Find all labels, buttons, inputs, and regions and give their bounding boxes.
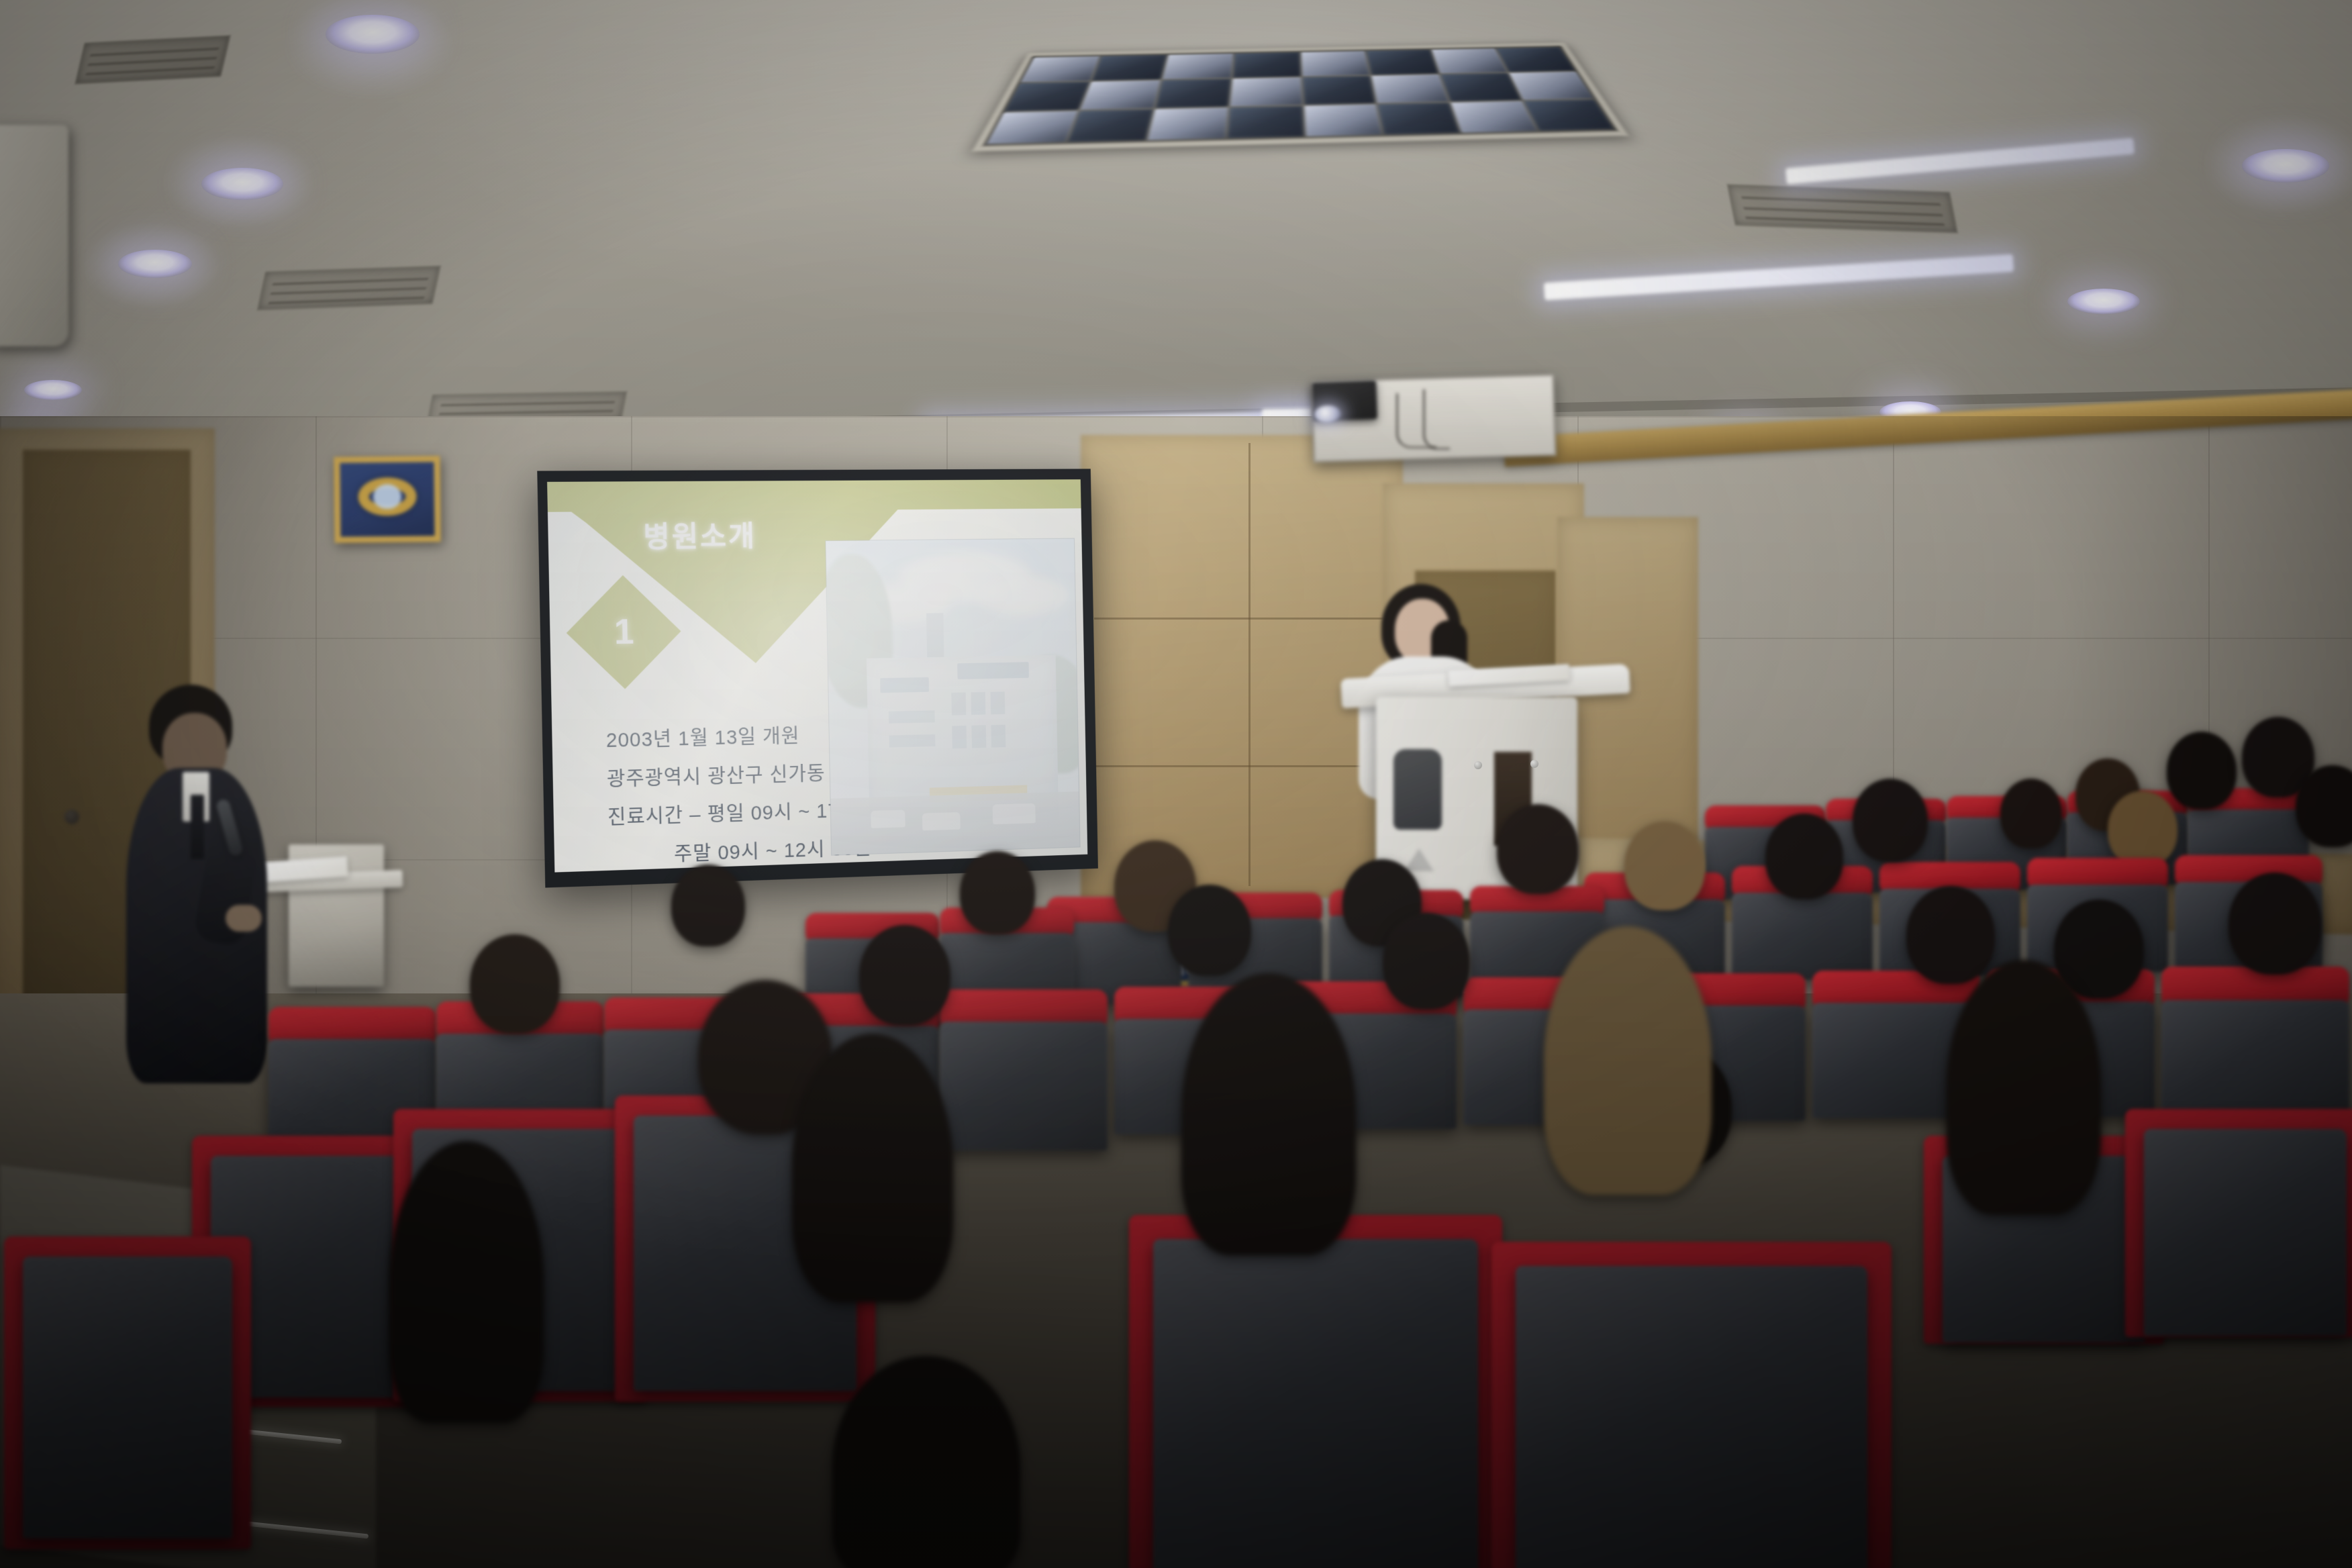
audience-head (2228, 873, 2321, 975)
loudspeaker-icon (0, 125, 68, 346)
seat-foreground (13, 1242, 242, 1551)
necktie (191, 795, 204, 859)
mc-speaker (121, 685, 268, 1155)
air-vent-icon (257, 265, 442, 310)
audience-head (671, 865, 745, 946)
screen-surface: 병원소개 1 2003년 1월 13일 개원 광주광역시 광산구 신가동 위치 … (547, 479, 1087, 872)
audience-head (1497, 804, 1579, 894)
audience-head-foreground (832, 1356, 1020, 1568)
slide-photo-hospital (826, 539, 1079, 855)
audience-head (2108, 791, 2177, 867)
audience-head (1168, 885, 1251, 976)
lectern-control-panel (1393, 749, 1442, 830)
projector-cables (1423, 389, 1450, 450)
audience-head (1765, 814, 1843, 899)
air-vent-icon (1727, 184, 1959, 233)
seat-row-near (2161, 967, 2349, 1121)
slide-title: 병원소개 (643, 513, 757, 556)
lectern-screw (1530, 760, 1538, 768)
plaque-label (340, 530, 434, 530)
audience-head-foreground (792, 1034, 953, 1302)
lectern-logo (1404, 848, 1434, 871)
audience-head (470, 934, 560, 1034)
audience-head-foreground (1947, 960, 2101, 1215)
audience-head (1624, 822, 1705, 910)
audience-head-foreground (1181, 973, 1356, 1255)
air-vent-icon (75, 35, 230, 84)
lectern-screw (1474, 761, 1482, 769)
audience-head (1906, 886, 1995, 984)
downlight-icon (24, 380, 82, 400)
audience-head-foreground (389, 1141, 544, 1423)
downlight-icon (326, 15, 420, 54)
slide: 병원소개 1 2003년 1월 13일 개원 광주광역시 광산구 신가동 위치 … (547, 479, 1087, 872)
projection-screen: 병원소개 1 2003년 1월 13일 개원 광주광역시 광산구 신가동 위치 … (537, 469, 1098, 887)
seat-foreground (2135, 1114, 2352, 1336)
downlight-icon (201, 168, 283, 200)
ceiling-troffer-light (972, 42, 1628, 152)
audience-head (2000, 779, 2062, 848)
ceiling (0, 0, 2352, 443)
seat-foreground (1504, 1248, 1879, 1568)
downlight-icon (2242, 149, 2329, 183)
audience-head (1383, 913, 1470, 1010)
slide-number: 1 (614, 611, 634, 652)
downlight-icon (118, 250, 192, 278)
seat-row-near (940, 989, 1108, 1150)
audience-head (2167, 732, 2237, 810)
wall-plaque-crest (334, 456, 440, 543)
audience-head-foreground (1544, 926, 1712, 1195)
hand (226, 905, 262, 932)
auditorium-photo: 서영대학교 병원소개 1 (0, 0, 2352, 1568)
seat-foreground (1141, 1222, 1490, 1568)
audience-head (859, 925, 950, 1026)
downlight-icon (2067, 289, 2140, 314)
audience-head (1853, 779, 1928, 862)
audience-head (960, 851, 1035, 934)
